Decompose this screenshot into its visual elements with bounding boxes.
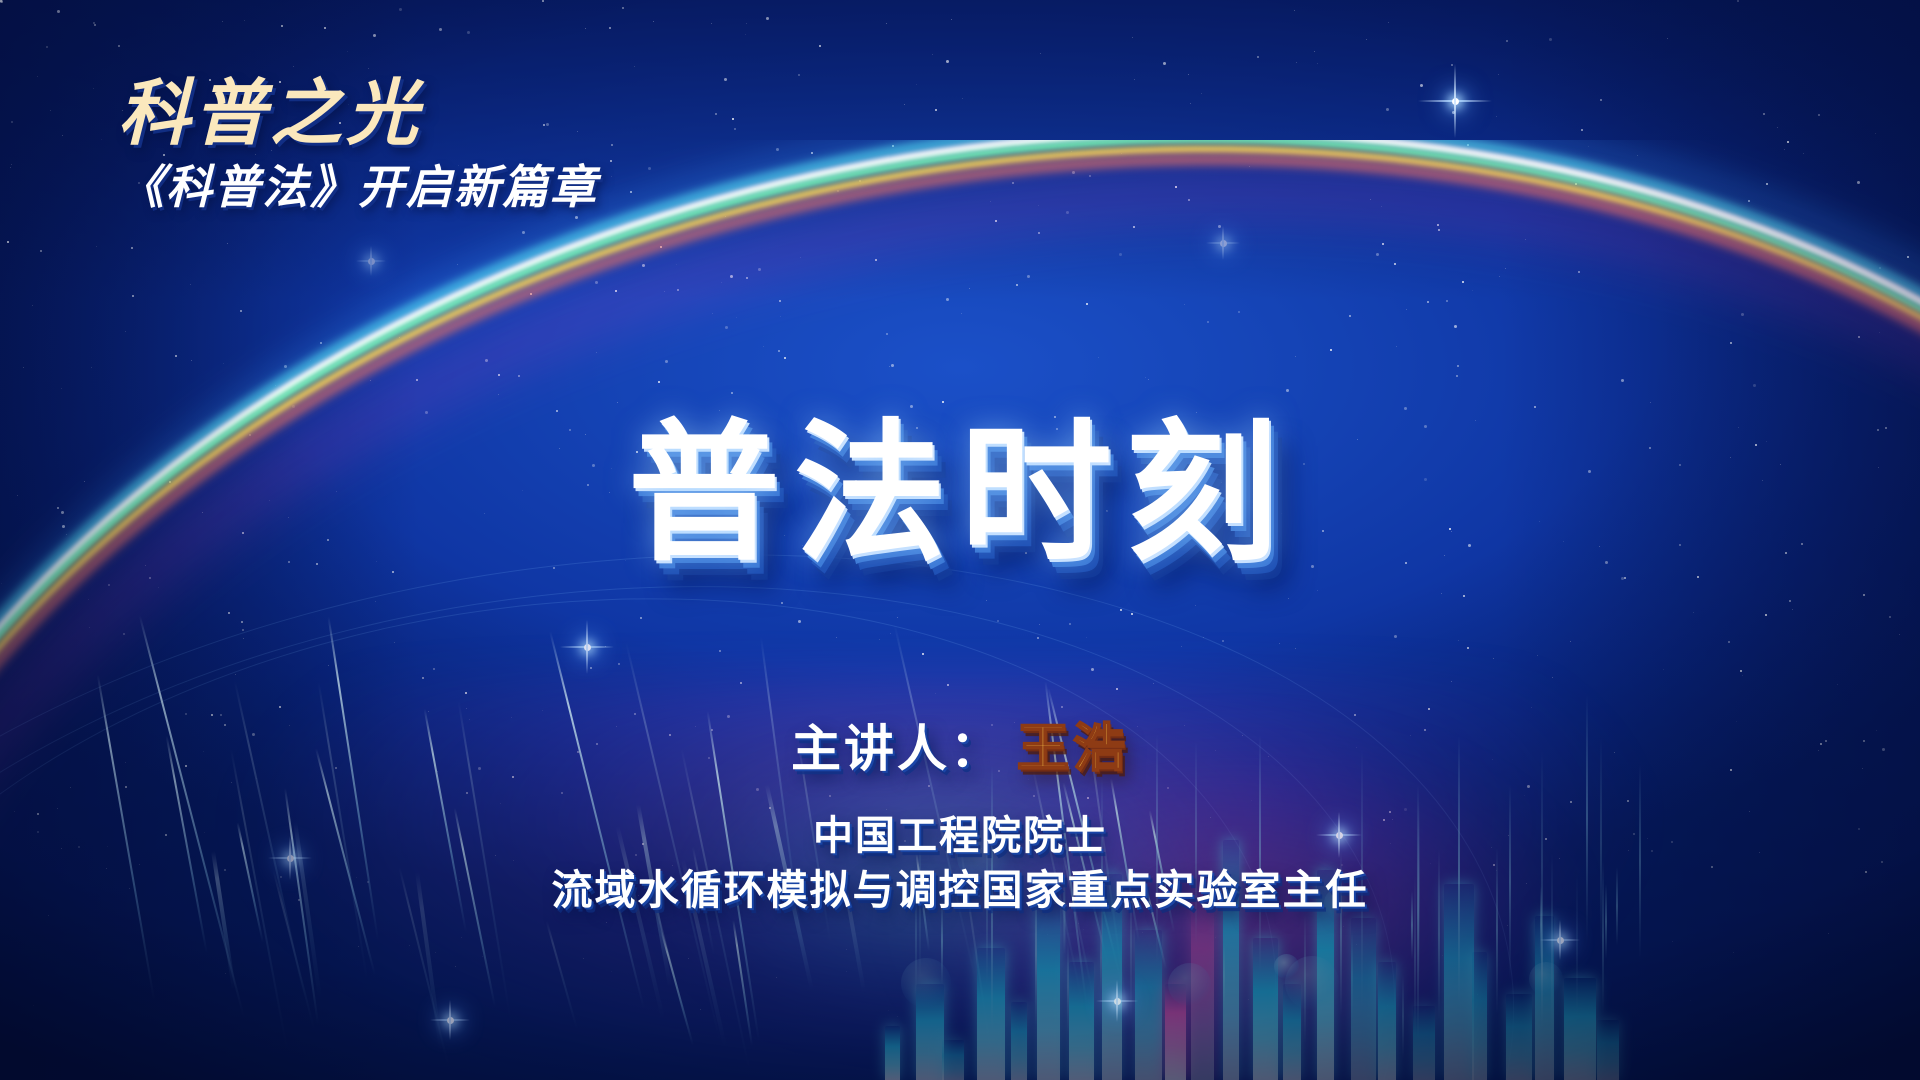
speaker-label: 主讲人： xyxy=(791,721,1003,777)
main-title-wrap: 普法时刻 xyxy=(0,418,1920,570)
credential-line: 流域水循环模拟与调控国家重点实验室主任 xyxy=(0,863,1920,917)
speaker-line: 主讲人：王浩 xyxy=(0,706,1920,781)
speaker-name: 王浩 xyxy=(1017,720,1129,778)
speaker-credentials: 中国工程院院士 流域水循环模拟与调控国家重点实验室主任 xyxy=(0,810,1920,917)
main-title: 普法时刻 xyxy=(628,418,1292,570)
video-title-card: 科普之光 《科普法》开启新篇章 普法时刻 主讲人：王浩 中国工程院院士 流域水循… xyxy=(0,0,1920,1080)
program-logo-title: 科普之光 xyxy=(118,78,598,150)
program-logo-subtitle: 《科普法》开启新篇章 xyxy=(118,164,598,210)
program-logo-block: 科普之光 《科普法》开启新篇章 xyxy=(118,78,598,210)
credential-line: 中国工程院院士 xyxy=(0,810,1920,863)
